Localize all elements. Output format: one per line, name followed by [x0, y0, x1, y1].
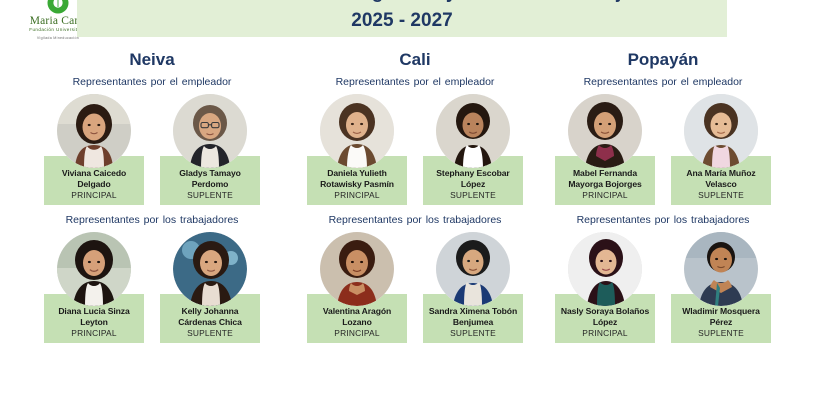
- city-column-popayan: Popayán Representantes por el empleador: [538, 50, 788, 337]
- portrait-photo: [320, 94, 394, 168]
- group-heading-employer: Representantes por el empleador: [27, 75, 277, 89]
- avatar: [173, 232, 247, 306]
- avatar: [320, 94, 394, 168]
- person-name: Stephany Escobar López: [425, 168, 521, 189]
- person-role: PRINCIPAL: [309, 190, 405, 201]
- avatar: [684, 94, 758, 168]
- person-card[interactable]: Wladimir Mosquera Pérez SUPLENTE: [671, 232, 771, 337]
- header-banner: Comité Paritario de Seguridad y Salud en…: [77, 0, 727, 37]
- portrait-photo: [568, 94, 642, 168]
- avatar: [568, 94, 642, 168]
- person-row-workers: Valentina Aragón Lozano PRINCIPAL: [290, 232, 540, 337]
- person-card[interactable]: Valentina Aragón Lozano PRINCIPAL: [307, 232, 407, 337]
- avatar: [436, 94, 510, 168]
- period-subtitle: 2025 - 2027: [77, 7, 727, 34]
- leaf-in-circle-icon: [47, 0, 69, 14]
- avatar: [57, 232, 131, 306]
- person-card[interactable]: Ana María Muñoz Velasco SUPLENTE: [671, 94, 771, 199]
- avatar: [684, 232, 758, 306]
- city-title: Cali: [290, 50, 540, 70]
- portrait-photo: [173, 232, 247, 306]
- person-card[interactable]: Mabel Fernanda Mayorga Bojorges PRINCIPA…: [555, 94, 655, 199]
- avatar: [57, 94, 131, 168]
- city-title: Neiva: [27, 50, 277, 70]
- person-name: Ana María Muñoz Velasco: [673, 168, 769, 189]
- person-name: Valentina Aragón Lozano: [309, 306, 405, 327]
- person-role: SUPLENTE: [425, 328, 521, 339]
- portrait-photo: [684, 232, 758, 306]
- portrait-photo: [436, 94, 510, 168]
- group-heading-employer: Representantes por el empleador: [290, 75, 540, 89]
- person-role: PRINCIPAL: [309, 328, 405, 339]
- person-row-workers: Nasly Soraya Bolaños López PRINCIPAL: [538, 232, 788, 337]
- portrait-photo: [57, 232, 131, 306]
- group-heading-workers: Representantes por los trabajadores: [538, 213, 788, 227]
- person-role: SUPLENTE: [673, 190, 769, 201]
- portrait-photo: [320, 232, 394, 306]
- avatar: [436, 232, 510, 306]
- person-name: Diana Lucia Sinza Leyton: [46, 306, 142, 327]
- person-row-employer: Daniela Yulieth Rotawisky Pasmín PRINCIP…: [290, 94, 540, 199]
- person-name: Wladimir Mosquera Pérez: [673, 306, 769, 327]
- person-role: SUPLENTE: [425, 190, 521, 201]
- avatar: [320, 232, 394, 306]
- person-role: SUPLENTE: [162, 328, 258, 339]
- portrait-photo: [568, 232, 642, 306]
- page-title: Comité Paritario de Seguridad y Salud en…: [77, 0, 727, 5]
- city-title: Popayán: [538, 50, 788, 70]
- person-card[interactable]: Diana Lucia Sinza Leyton PRINCIPAL: [44, 232, 144, 337]
- portrait-photo: [684, 94, 758, 168]
- person-name: Gladys Tamayo Perdomo: [162, 168, 258, 189]
- person-role: PRINCIPAL: [46, 190, 142, 201]
- person-name: Mabel Fernanda Mayorga Bojorges: [557, 168, 653, 189]
- portrait-photo: [436, 232, 510, 306]
- person-card[interactable]: Daniela Yulieth Rotawisky Pasmín PRINCIP…: [307, 94, 407, 199]
- person-name: Kelly Johanna Cárdenas Chica: [162, 306, 258, 327]
- avatar: [173, 94, 247, 168]
- person-name: Sandra Ximena Tobón Benjumea: [425, 306, 521, 327]
- avatar: [568, 232, 642, 306]
- person-card[interactable]: Nasly Soraya Bolaños López PRINCIPAL: [555, 232, 655, 337]
- person-role: PRINCIPAL: [557, 190, 653, 201]
- group-heading-workers: Representantes por los trabajadores: [27, 213, 277, 227]
- city-column-neiva: Neiva Representantes por el empleador: [27, 50, 277, 337]
- portrait-photo: [57, 94, 131, 168]
- person-row-employer: Viviana Caicedo Delgado PRINCIPAL: [27, 94, 277, 199]
- person-card[interactable]: Stephany Escobar López SUPLENTE: [423, 94, 523, 199]
- person-card[interactable]: Gladys Tamayo Perdomo SUPLENTE: [160, 94, 260, 199]
- person-role: PRINCIPAL: [46, 328, 142, 339]
- person-name: Daniela Yulieth Rotawisky Pasmín: [309, 168, 405, 189]
- group-heading-workers: Representantes por los trabajadores: [290, 213, 540, 227]
- person-name: Viviana Caicedo Delgado: [46, 168, 142, 189]
- person-role: PRINCIPAL: [557, 328, 653, 339]
- person-role: SUPLENTE: [162, 190, 258, 201]
- group-heading-employer: Representantes por el empleador: [538, 75, 788, 89]
- person-role: SUPLENTE: [673, 328, 769, 339]
- person-row-workers: Diana Lucia Sinza Leyton PRINCIPAL: [27, 232, 277, 337]
- person-card[interactable]: Kelly Johanna Cárdenas Chica SUPLENTE: [160, 232, 260, 337]
- person-card[interactable]: Sandra Ximena Tobón Benjumea SUPLENTE: [423, 232, 523, 337]
- person-name: Nasly Soraya Bolaños López: [557, 306, 653, 327]
- person-card[interactable]: Viviana Caicedo Delgado PRINCIPAL: [44, 94, 144, 199]
- portrait-photo: [173, 94, 247, 168]
- person-row-employer: Mabel Fernanda Mayorga Bojorges PRINCIPA…: [538, 94, 788, 199]
- city-column-cali: Cali Representantes por el empleador: [290, 50, 540, 337]
